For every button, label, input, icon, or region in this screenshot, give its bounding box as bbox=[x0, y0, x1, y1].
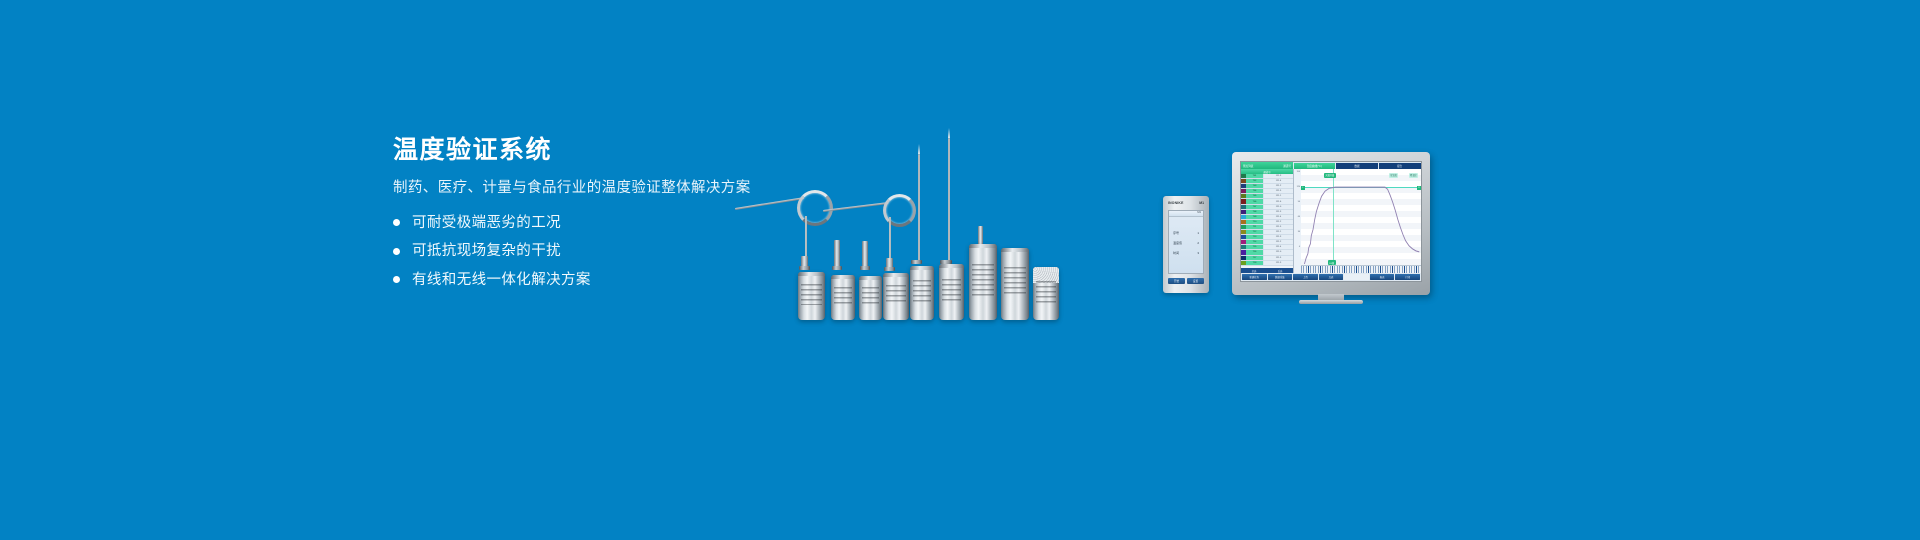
sensor-id: T02 bbox=[1246, 179, 1264, 183]
y-tick: 60 bbox=[1298, 216, 1300, 218]
reading-label: 时间 bbox=[1173, 251, 1179, 255]
monitor-bezel: 测点列表 通道号 温度曲线(℃) 数据 报告 通道号 bbox=[1232, 152, 1430, 295]
list-item: 序号 1 bbox=[1173, 231, 1199, 235]
y-tick: 0 bbox=[1299, 246, 1300, 248]
sensor-value: 121.0 bbox=[1264, 250, 1293, 254]
sensor-id: T16 bbox=[1246, 250, 1264, 254]
reading-value: 3 bbox=[1197, 251, 1199, 255]
y-tick: 90 bbox=[1298, 201, 1300, 203]
bullet-text: 可抵抗现场复杂的干扰 bbox=[412, 244, 561, 259]
handheld-model-label: M1 bbox=[1199, 201, 1204, 205]
handheld-screen: M1 序号 1 温度值 2 时间 3 bbox=[1168, 210, 1204, 274]
sensor-list-rows: T01 121.3 T02 121.4 T03 12 bbox=[1241, 174, 1293, 268]
y-tick: 120 bbox=[1297, 186, 1300, 188]
bullet-dot-icon bbox=[393, 219, 400, 226]
sensor-value: 121.1 bbox=[1264, 194, 1293, 198]
tab-data[interactable]: 数据 bbox=[1336, 163, 1378, 169]
software-top-bar: 测点列表 通道号 温度曲线(℃) 数据 报告 bbox=[1241, 162, 1421, 169]
sensor-value: 121.2 bbox=[1264, 184, 1293, 188]
handheld-keypad: 开始 设置 bbox=[1168, 278, 1204, 284]
hero-banner: 温度验证系统 制药、医疗、计量与食品行业的温度验证整体解决方案 可耐受极端恶劣的… bbox=[0, 0, 1920, 540]
temperature-curve-path bbox=[1301, 169, 1421, 266]
tab-temperature-curve[interactable]: 温度曲线(℃) bbox=[1294, 163, 1336, 169]
sensor-id: T05 bbox=[1246, 194, 1264, 198]
sensor-value: 121.6 bbox=[1264, 199, 1293, 203]
list-item: 温度值 2 bbox=[1173, 241, 1199, 245]
panel-title: 测点列表 bbox=[1243, 164, 1253, 168]
sensor-id: T01 bbox=[1246, 174, 1264, 178]
bullet-text: 可耐受极端恶劣的工况 bbox=[412, 216, 561, 231]
handheld-screen-title: M1 bbox=[1197, 211, 1201, 214]
sensor-id: T13 bbox=[1246, 235, 1264, 239]
temperature-curve-chart: 150 120 90 60 30 0 L R bbox=[1294, 169, 1421, 273]
sensor-value: 121.2 bbox=[1264, 240, 1293, 244]
sensor-value: 121.3 bbox=[1264, 174, 1293, 178]
software-body: 通道号 T01 121.3 T02 121.4 bbox=[1241, 169, 1421, 273]
bullet-text: 有线和无线一体化解决方案 bbox=[412, 273, 591, 288]
sensor-value: 121.3 bbox=[1264, 235, 1293, 239]
sensor-id: T08 bbox=[1246, 210, 1264, 214]
sensor-value: 121.5 bbox=[1264, 256, 1293, 260]
monitor-display: INON 测点列表 通道号 温度曲线(℃) 数据 报告 bbox=[1232, 152, 1430, 295]
software-screen: 测点列表 通道号 温度曲线(℃) 数据 报告 通道号 bbox=[1240, 161, 1422, 282]
sensor-value: 121.4 bbox=[1264, 245, 1293, 249]
sintered-cap-icon bbox=[1033, 267, 1059, 283]
sensor-id: T07 bbox=[1246, 205, 1264, 209]
software-tab-bar: 温度曲线(℃) 数据 报告 bbox=[1293, 162, 1421, 169]
sensor-id: T14 bbox=[1246, 240, 1264, 244]
sensor-value: 121.4 bbox=[1264, 215, 1293, 219]
product-photo-group bbox=[735, 120, 1205, 320]
table-row[interactable]: T18 121.3 bbox=[1241, 261, 1293, 266]
y-tick: 150 bbox=[1297, 171, 1300, 173]
bullet-dot-icon bbox=[393, 276, 400, 283]
sensor-value: 121.0 bbox=[1264, 205, 1293, 209]
list-item: 时间 3 bbox=[1173, 251, 1199, 255]
sensor-id: T03 bbox=[1246, 184, 1264, 188]
sensor-value: 121.5 bbox=[1264, 225, 1293, 229]
sensor-id: T17 bbox=[1246, 256, 1264, 260]
upload-button[interactable]: 上传 bbox=[1293, 274, 1318, 280]
sensor-id: T12 bbox=[1246, 230, 1264, 234]
sensor-id: T15 bbox=[1246, 245, 1264, 249]
chart-x-axis bbox=[1301, 265, 1421, 273]
chart-plot-area: L R 灭菌开始 保温段 降温段 bbox=[1301, 169, 1421, 266]
handheld-settings-button[interactable]: 设置 bbox=[1187, 278, 1204, 284]
measurement-panel-header: 测点列表 通道号 bbox=[1241, 162, 1293, 169]
reading-label: 序号 bbox=[1173, 231, 1179, 235]
tab-report[interactable]: 报告 bbox=[1379, 163, 1421, 169]
sensor-id: T04 bbox=[1246, 189, 1264, 193]
probe-logger-mesh-cap bbox=[1033, 267, 1059, 320]
y-tick: 30 bbox=[1298, 231, 1300, 233]
f0-marker-chip: F0值 bbox=[1328, 260, 1336, 265]
reading-value: 1 bbox=[1197, 231, 1199, 235]
software-toolbar: 新建任务 数据采集 上传 点表 报表 打印 bbox=[1241, 273, 1421, 281]
sensor-value: 121.3 bbox=[1264, 261, 1293, 265]
handheld-reading-list: 序号 1 温度值 2 时间 3 bbox=[1169, 217, 1203, 255]
sensor-id: T09 bbox=[1246, 215, 1264, 219]
sensor-id: T10 bbox=[1246, 220, 1264, 224]
print-button[interactable]: 打印 bbox=[1395, 274, 1420, 280]
sensor-list-panel: 通道号 T01 121.3 T02 121.4 bbox=[1241, 169, 1294, 273]
sensor-id: T11 bbox=[1246, 225, 1264, 229]
monitor-stand-base bbox=[1299, 300, 1363, 304]
sensor-value: 121.3 bbox=[1264, 210, 1293, 214]
sensor-value: 121.1 bbox=[1264, 230, 1293, 234]
reading-value: 2 bbox=[1197, 241, 1199, 245]
sensor-value: 121.2 bbox=[1264, 220, 1293, 224]
sensor-id: T06 bbox=[1246, 199, 1264, 203]
handheld-brand-label: INONIKE bbox=[1168, 201, 1184, 205]
report-button[interactable]: 报表 bbox=[1370, 274, 1395, 280]
handheld-start-button[interactable]: 开始 bbox=[1168, 278, 1185, 284]
toolbar-spacer bbox=[1344, 274, 1369, 280]
sensor-value: 121.5 bbox=[1264, 189, 1293, 193]
point-table-button[interactable]: 点表 bbox=[1319, 274, 1344, 280]
handheld-reader-device: INONIKE M1 M1 序号 1 温度值 2 时间 3 bbox=[1163, 196, 1209, 293]
data-collect-button[interactable]: 数据采集 bbox=[1268, 274, 1293, 280]
sensor-id: T18 bbox=[1246, 261, 1264, 265]
new-task-button[interactable]: 新建任务 bbox=[1242, 274, 1267, 280]
panel-subtitle: 通道号 bbox=[1283, 164, 1291, 168]
bullet-dot-icon bbox=[393, 248, 400, 255]
reading-label: 温度值 bbox=[1173, 241, 1182, 245]
handheld-titlebar: M1 bbox=[1169, 211, 1203, 217]
sensor-value: 121.4 bbox=[1264, 179, 1293, 183]
